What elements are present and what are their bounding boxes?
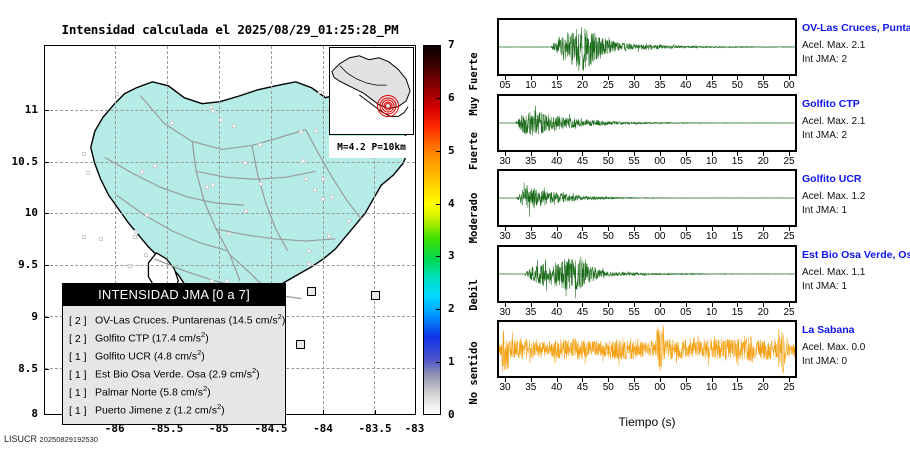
colorbar-category-label: Fuerte [468,132,480,170]
station-marker-4[interactable] [371,291,380,300]
map-y-tick-label: 9 [2,310,38,323]
colorbar-gradient [424,46,440,414]
map-y-tick-label: 9.5 [2,258,38,271]
map-gridline-v [323,46,324,414]
legend-row: [ 1 ]Puerto Jimene z (1.2 cm/s2) [69,400,279,418]
station-dot [82,152,86,156]
waveform-x-tick-label: 45 [570,382,594,393]
station-dot [99,237,103,241]
colorbar-tick-label: 4 [448,197,462,210]
waveform-x-tick-label: 15 [725,382,749,393]
waveform-column: OV-Las Cruces, PuntarAcel. Max. 2.1Int J… [497,18,797,413]
station-dot [86,171,90,175]
colorbar-tick-label: 0 [448,408,462,421]
waveform-x-tick-label: 20 [751,231,775,242]
station-dot [219,118,223,122]
map-y-tick [44,265,49,266]
waveform-x-tick-label: 25 [777,156,801,167]
page-title: Intensidad calculada el 2025/08/29_01:25… [40,22,420,37]
waveform-panel: 303540455055000510152025 [497,320,797,395]
map-y-tick-label: 10 [2,206,38,219]
intensity-legend[interactable]: INTENSIDAD JMA [0 a 7] [ 2 ]OV-Las Cruce… [62,283,286,425]
waveform-x-tick-label: 20 [751,382,775,393]
station-dot [314,129,318,133]
waveform-jma-intensity: Int JMA: 1 [802,281,910,292]
waveform-x-tick-label: 40 [545,382,569,393]
colorbar-tick [436,309,441,310]
station-dot [170,121,174,125]
waveform-accel-max: Acel. Max. 2.1 [802,116,910,127]
waveform-station-info: La SabanaAcel. Max. 0.0Int JMA: 0 [802,324,910,367]
waveform-station-info: Est Bio Osa Verde, OsaAcel. Max. 1.1Int … [802,249,910,292]
map-x-tick [375,410,376,415]
waveform-x-tick-label: 50 [596,231,620,242]
map-x-tick [415,410,416,415]
waveform-x-axis: 303540455055000510152025 [497,303,797,320]
waveform-panel: 303540455055000510152025 [497,169,797,244]
magnitude-depth-box: M=4.2 P=10km [329,136,414,158]
waveform-x-tick-label: 50 [596,156,620,167]
waveform-x-tick-label: 40 [545,231,569,242]
waveform-x-tick-label: 05 [674,307,698,318]
colorbar-category-label: No sentido [468,341,480,404]
waveform-x-tick-label: 55 [622,307,646,318]
waveform-x-tick-label: 45 [570,156,594,167]
colorbar-tick-label: 1 [448,355,462,368]
legend-row: [ 2 ]Golfito CTP (17.4 cm/s2) [69,328,279,346]
waveform-x-tick-label: 55 [622,382,646,393]
waveform-x-tick-label: 25 [596,80,620,91]
station-dot [318,90,322,94]
waveform-station-name[interactable]: Golfito UCR [802,173,910,185]
station-dot [321,197,325,201]
station-dot [211,183,215,187]
inset-locator-map[interactable] [329,47,414,135]
waveform-x-tick-label: 05 [674,231,698,242]
waveform-x-axis: 051015202530354045505500 [497,76,797,93]
waveform-x-axis: 303540455055000510152025 [497,378,797,395]
legend-row: [ 1 ]Golfito UCR (4.8 cm/s2) [69,346,279,364]
map-gridline-h [45,162,415,163]
colorbar-tick [436,362,441,363]
waveform-plot[interactable] [497,94,797,152]
waveform-x-tick-label: 35 [648,80,672,91]
map-y-tick [44,369,49,370]
waveform-x-tick-label: 35 [519,307,543,318]
waveform-accel-max: Acel. Max. 0.0 [802,342,910,353]
waveform-panel: 303540455055000510152025 [497,245,797,320]
waveform-station-name[interactable]: Golfito CTP [802,98,910,110]
waveform-plot[interactable] [497,18,797,76]
station-dot [205,185,209,189]
waveform-x-tick-label: 10 [700,382,724,393]
map-y-tick-label: 10.5 [2,155,38,168]
map-y-tick-label: 11 [2,103,38,116]
station-dot [232,124,236,128]
legend-row: [ 1 ]Palmar Norte (5.8 cm/s2) [69,382,279,400]
map-y-tick-label: 8 [2,407,38,420]
waveform-jma-intensity: Int JMA: 1 [802,205,910,216]
waveform-x-tick-label: 50 [596,382,620,393]
station-dot [307,249,311,253]
waveform-x-tick-label: 25 [777,307,801,318]
waveform-x-tick-label: 45 [700,80,724,91]
map-y-tick [44,317,49,318]
legend-title: INTENSIDAD JMA [0 a 7] [63,284,285,306]
waveform-x-tick-label: 05 [674,382,698,393]
station-dot [313,188,317,192]
station-dot [347,219,351,223]
waveform-x-tick-label: 15 [725,156,749,167]
legend-row: [ 2 ]OV-Las Cruces. Puntarenas (14.5 cm/… [69,310,279,328]
station-dot [304,177,308,181]
footer-label: LISUCR [4,434,37,444]
station-dot [115,92,119,96]
waveform-x-tick-label: 25 [777,231,801,242]
station-dot [244,209,248,213]
waveform-station-name[interactable]: La Sabana [802,324,910,336]
station-dot [153,164,157,168]
waveform-x-tick-label: 35 [519,156,543,167]
waveform-jma-intensity: Int JMA: 0 [802,356,910,367]
waveform-x-tick-label: 15 [725,307,749,318]
waveform-x-tick-label: 30 [493,307,517,318]
waveform-x-tick-label: 00 [648,156,672,167]
waveform-station-name[interactable]: OV-Las Cruces, Puntar [802,22,910,34]
map-gridline-h [45,213,415,214]
waveform-station-info: Golfito CTPAcel. Max. 2.1Int JMA: 2 [802,98,910,141]
station-dot [133,235,137,239]
waveform-x-axis: 303540455055000510152025 [497,227,797,244]
station-dot [227,232,231,236]
waveform-accel-max: Acel. Max. 1.2 [802,191,910,202]
waveform-x-tick-label: 50 [596,307,620,318]
waveform-x-tick-label: 35 [519,382,543,393]
waveform-panel: 051015202530354045505500 [497,18,797,93]
waveform-x-tick-label: 10 [700,231,724,242]
station-dot [330,195,334,199]
waveform-station-name[interactable]: Est Bio Osa Verde, Osa [802,249,910,261]
waveform-plot[interactable] [497,245,797,303]
waveform-x-tick-label: 10 [519,80,543,91]
map-gridline-h [45,265,415,266]
waveform-x-tick-label: 25 [777,382,801,393]
waveform-x-tick-label: 05 [493,80,517,91]
waveform-x-tick-label: 00 [777,80,801,91]
station-dot [134,230,138,234]
station-dot [307,262,311,266]
station-dot [327,234,331,238]
epicenter-ring [385,103,391,109]
station-dot [299,130,303,134]
waveform-x-tick-label: 55 [622,231,646,242]
waveform-x-tick-label: 40 [674,80,698,91]
footer-watermark: LISUCR 20250829192530 [4,434,98,444]
colorbar-tick [436,98,441,99]
waveform-x-tick-label: 20 [751,307,775,318]
map-y-tick [44,162,49,163]
colorbar-tick [436,256,441,257]
legend-rows: [ 2 ]OV-Las Cruces. Puntarenas (14.5 cm/… [63,306,285,424]
station-dot [259,182,263,186]
colorbar-category-label: Debil [468,279,480,311]
waveform-accel-max: Acel. Max. 2.1 [802,40,910,51]
waveform-x-tick-label: 10 [700,156,724,167]
colorbar-category-label: Muy Fuerte [468,53,480,116]
map-x-tick [323,410,324,415]
waveform-x-tick-label: 20 [751,156,775,167]
waveform-plot[interactable] [497,320,797,378]
waveform-x-tick-label: 30 [622,80,646,91]
waveform-accel-max: Acel. Max. 1.1 [802,267,910,278]
map-y-tick [44,414,49,415]
map-x-tick-label: -83 [385,422,445,435]
waveform-x-tick-label: 15 [545,80,569,91]
station-marker-3[interactable] [307,287,316,296]
waveform-x-tick-label: 35 [519,231,543,242]
colorbar-tick-label: 7 [448,38,462,51]
waveform-x-tick-label: 40 [545,307,569,318]
station-marker-5[interactable] [296,340,305,349]
waveform-plot[interactable] [497,169,797,227]
map-y-tick [44,110,49,111]
waveform-x-tick-label: 50 [725,80,749,91]
station-dot [82,235,86,239]
waveform-x-tick-label: 30 [493,382,517,393]
map-y-tick [44,213,49,214]
colorbar-tick-label: 2 [448,302,462,315]
waveform-x-tick-label: 15 [725,231,749,242]
station-dot [128,264,132,268]
station-dot [258,143,262,147]
station-dot [209,105,213,109]
waveform-x-tick-label: 45 [570,307,594,318]
waveform-jma-intensity: Int JMA: 2 [802,54,910,65]
inset-landmass [330,48,413,134]
station-dot [144,253,148,257]
intensity-colorbar[interactable] [423,45,441,415]
station-dot [140,170,144,174]
waveform-x-axis: 303540455055000510152025 [497,152,797,169]
footer-code: 20250829192530 [40,435,98,444]
magnitude-depth-text: M=4.2 P=10km [337,142,406,153]
waveform-x-tick-label: 55 [622,156,646,167]
waveform-x-tick-label: 45 [570,231,594,242]
waveform-x-tick-label: 30 [493,156,517,167]
map-y-tick-label: 8.5 [2,362,38,375]
waveform-jma-intensity: Int JMA: 2 [802,130,910,141]
colorbar-tick [436,151,441,152]
waveform-x-tick-label: 40 [545,156,569,167]
station-dot [301,159,305,163]
waveform-x-tick-label: 30 [493,231,517,242]
waveform-x-tick-label: 55 [751,80,775,91]
station-dot [145,213,149,217]
map-x-tick-label: -84 [293,422,353,435]
waveform-x-tick-label: 20 [570,80,594,91]
waveform-x-tick-label: 00 [648,382,672,393]
waveform-x-tick-label: 05 [674,156,698,167]
waveform-station-info: Golfito UCRAcel. Max. 1.2Int JMA: 1 [802,173,910,216]
waveform-x-axis-label: Tiempo (s) [497,415,797,429]
waveform-x-tick-label: 10 [700,307,724,318]
colorbar-tick-label: 5 [448,144,462,157]
waveform-panel: 303540455055000510152025 [497,94,797,169]
colorbar-tick-label: 6 [448,91,462,104]
colorbar-category-label: Moderado [468,192,480,243]
station-dot [243,161,247,165]
colorbar-tick [436,204,441,205]
waveform-station-info: OV-Las Cruces, PuntarAcel. Max. 2.1Int J… [802,22,910,65]
legend-row: [ 1 ]Est Bio Osa Verde. Osa (2.9 cm/s2) [69,364,279,382]
station-dot [321,177,325,181]
waveform-x-tick-label: 00 [648,307,672,318]
colorbar-tick-label: 3 [448,249,462,262]
waveform-x-tick-label: 00 [648,231,672,242]
station-dot [211,109,215,113]
